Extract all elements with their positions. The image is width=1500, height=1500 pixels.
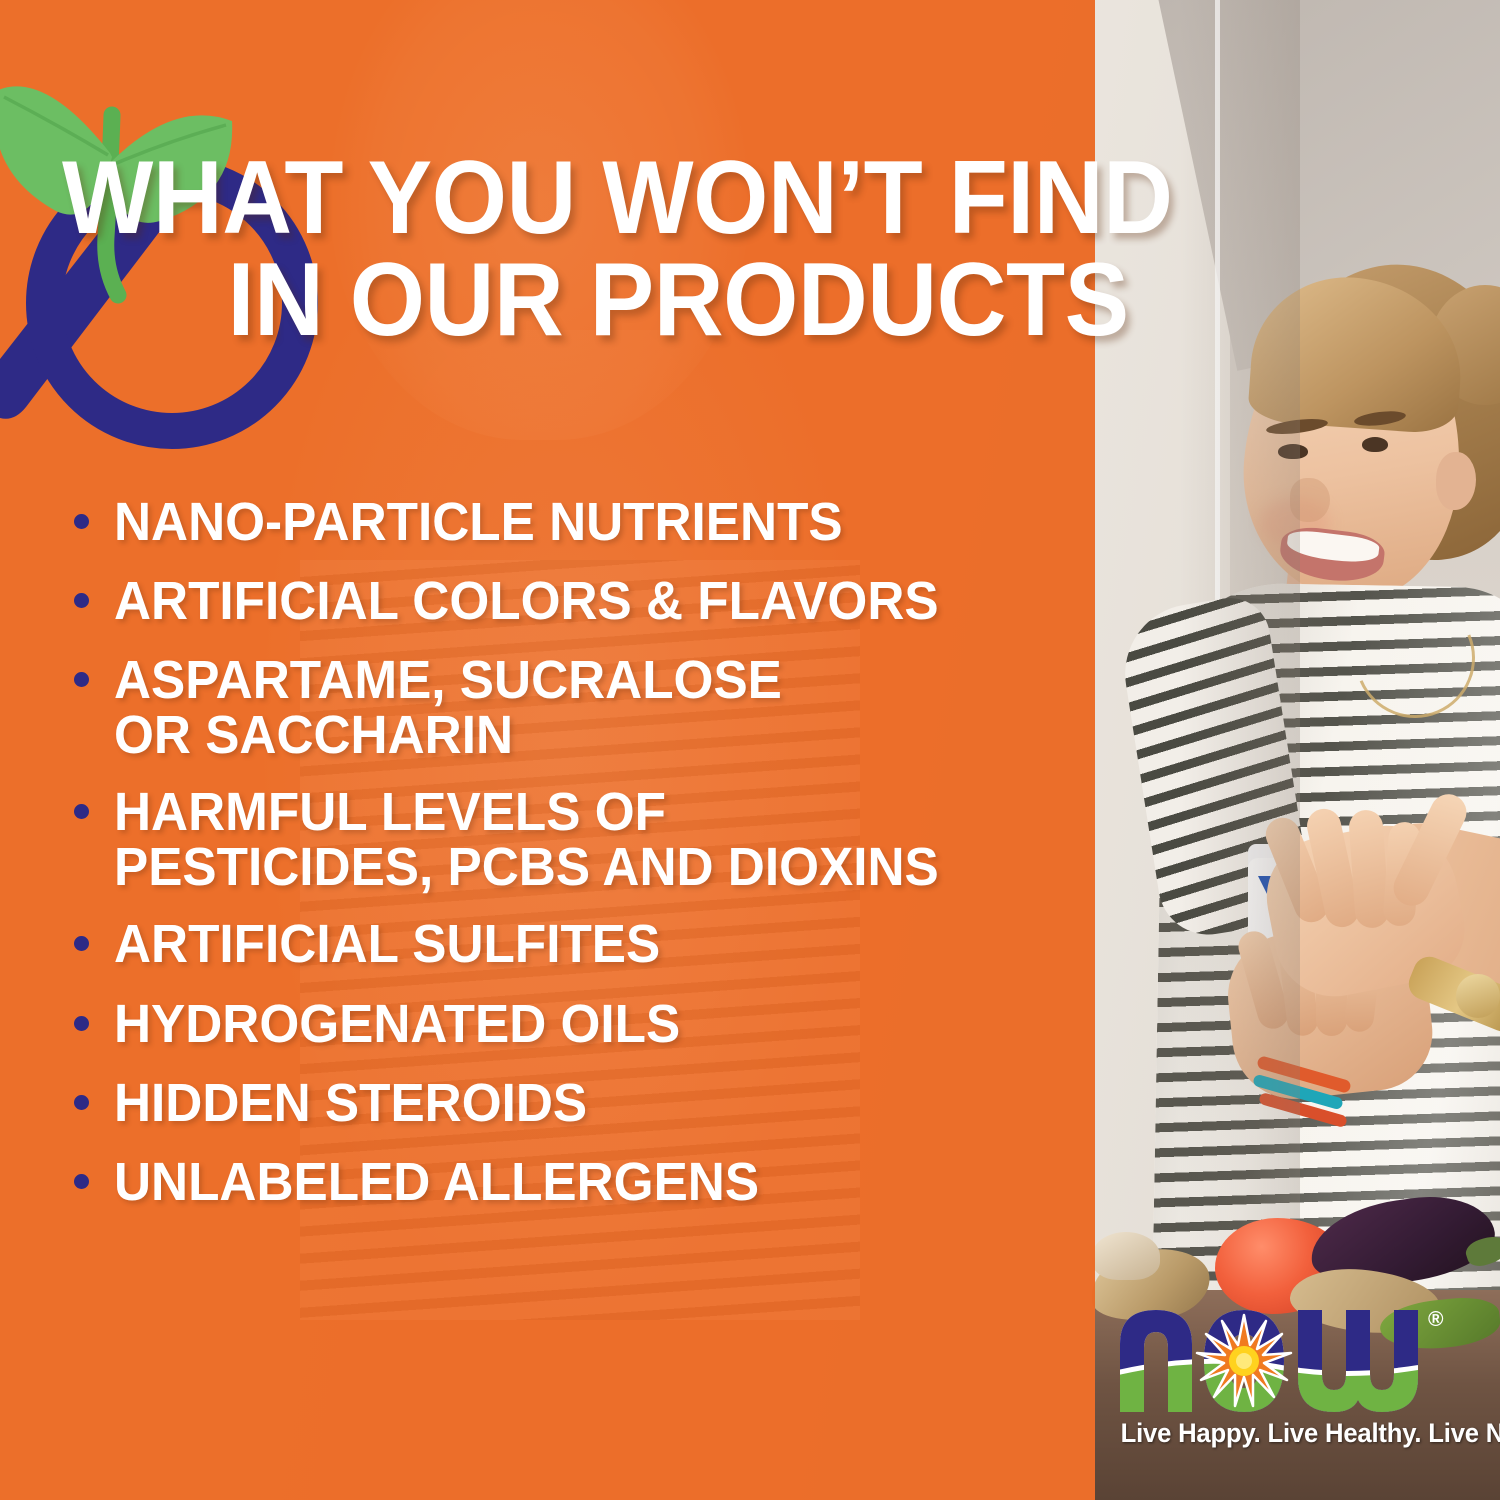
bullet-dot-icon <box>74 1016 89 1031</box>
bullet-dot-icon <box>74 1174 89 1189</box>
registered-trademark-icon: ® <box>1428 1308 1443 1332</box>
list-item: ARTIFICIAL SULFITES <box>74 917 1074 972</box>
list-item-label: NANO-PARTICLE NUTRIENTS <box>114 495 843 550</box>
list-item: ASPARTAME, SUCRALOSE OR SACCHARIN <box>74 653 1074 763</box>
list-item: HARMFUL LEVELS OF PESTICIDES, PCBS AND D… <box>74 785 1074 895</box>
list-item-label: HYDROGENATED OILS <box>114 997 680 1052</box>
bullet-dot-icon <box>74 593 89 608</box>
bullet-dot-icon <box>74 804 89 819</box>
list-item-label: ARTIFICIAL SULFITES <box>114 917 660 972</box>
eye-right <box>1362 437 1388 452</box>
list-item-label: UNLABELED ALLERGENS <box>114 1155 759 1210</box>
poster-root: WHAT YOU WON’T FIND IN OUR PRODUCTS NANO… <box>0 0 1500 1500</box>
list-item-label: HARMFUL LEVELS OF PESTICIDES, PCBS AND D… <box>114 785 939 895</box>
headline-line-2: IN OUR PRODUCTS <box>62 250 1383 352</box>
bullet-dot-icon <box>74 936 89 951</box>
list-item-label: ARTIFICIAL COLORS & FLAVORS <box>114 574 939 629</box>
list-item: ARTIFICIAL COLORS & FLAVORS <box>74 574 1074 629</box>
mushroom <box>1092 1232 1160 1280</box>
now-foods-logo: ® Live Happy. Live Healthy. Live NOW. <box>1112 1300 1462 1475</box>
bullet-dot-icon <box>74 514 89 529</box>
list-item: HIDDEN STEROIDS <box>74 1076 1074 1131</box>
exclusion-list: NANO-PARTICLE NUTRIENTS ARTIFICIAL COLOR… <box>74 495 1074 1234</box>
bullet-dot-icon <box>74 1095 89 1110</box>
list-item-label: HIDDEN STEROIDS <box>114 1076 587 1131</box>
list-item: HYDROGENATED OILS <box>74 997 1074 1052</box>
page-title: WHAT YOU WON’T FIND IN OUR PRODUCTS <box>62 148 1383 352</box>
headline-line-1: WHAT YOU WON’T FIND <box>62 140 1172 256</box>
now-wordmark <box>1112 1300 1456 1416</box>
list-item-label: ASPARTAME, SUCRALOSE OR SACCHARIN <box>114 653 782 763</box>
list-item: NANO-PARTICLE NUTRIENTS <box>74 495 1074 550</box>
bullet-dot-icon <box>74 672 89 687</box>
logo-tagline: Live Happy. Live Healthy. Live NOW. <box>1121 1418 1448 1449</box>
list-item: UNLABELED ALLERGENS <box>74 1155 1074 1210</box>
